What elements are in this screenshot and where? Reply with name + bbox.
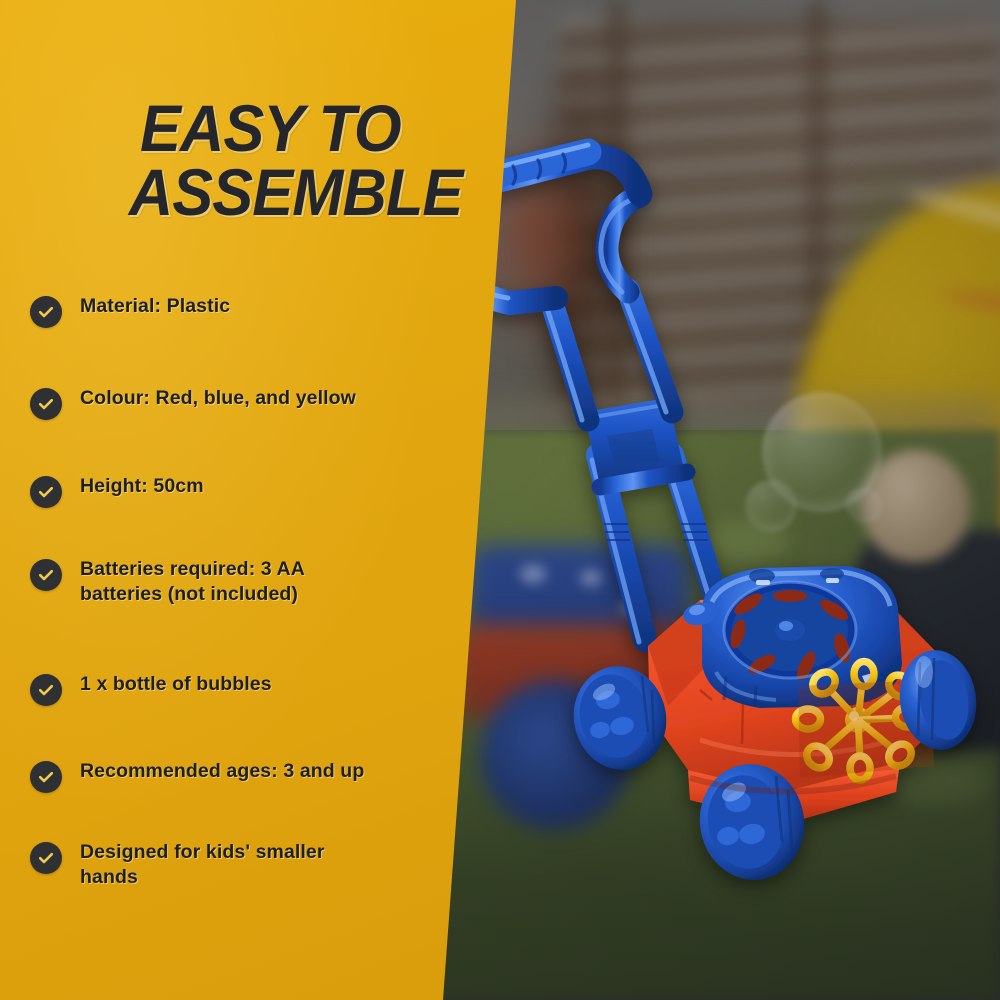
page-title: EASY TO ASSEMBLE [140,96,493,224]
check-circle-icon [30,842,62,874]
feature-item: Recommended ages: 3 and up [30,759,430,793]
feature-label: Material: Plastic [80,294,230,319]
product-feature-banner: EASY TO ASSEMBLE Material: PlasticColour… [0,0,1000,1000]
feature-label: Height: 50cm [80,474,204,499]
check-circle-icon [30,559,62,591]
feature-label: Recommended ages: 3 and up [80,759,364,784]
check-circle-icon [30,761,62,793]
check-circle-icon [30,388,62,420]
feature-label: Batteries required: 3 AA batteries (not … [80,557,380,607]
feature-label: Colour: Red, blue, and yellow [80,386,356,411]
check-circle-icon [30,296,62,328]
headline-line-2: ASSEMBLE [129,160,494,224]
check-circle-icon [30,476,62,508]
feature-label: 1 x bottle of bubbles [80,672,272,697]
feature-item: Designed for kids' smaller hands [30,840,430,890]
headline-line-1: EASY TO [140,96,493,160]
feature-item: Colour: Red, blue, and yellow [30,386,430,420]
feature-label: Designed for kids' smaller hands [80,840,380,890]
feature-item: 1 x bottle of bubbles [30,672,430,706]
check-circle-icon [30,674,62,706]
feature-item: Material: Plastic [30,294,430,328]
feature-item: Batteries required: 3 AA batteries (not … [30,557,430,607]
feature-item: Height: 50cm [30,474,430,508]
